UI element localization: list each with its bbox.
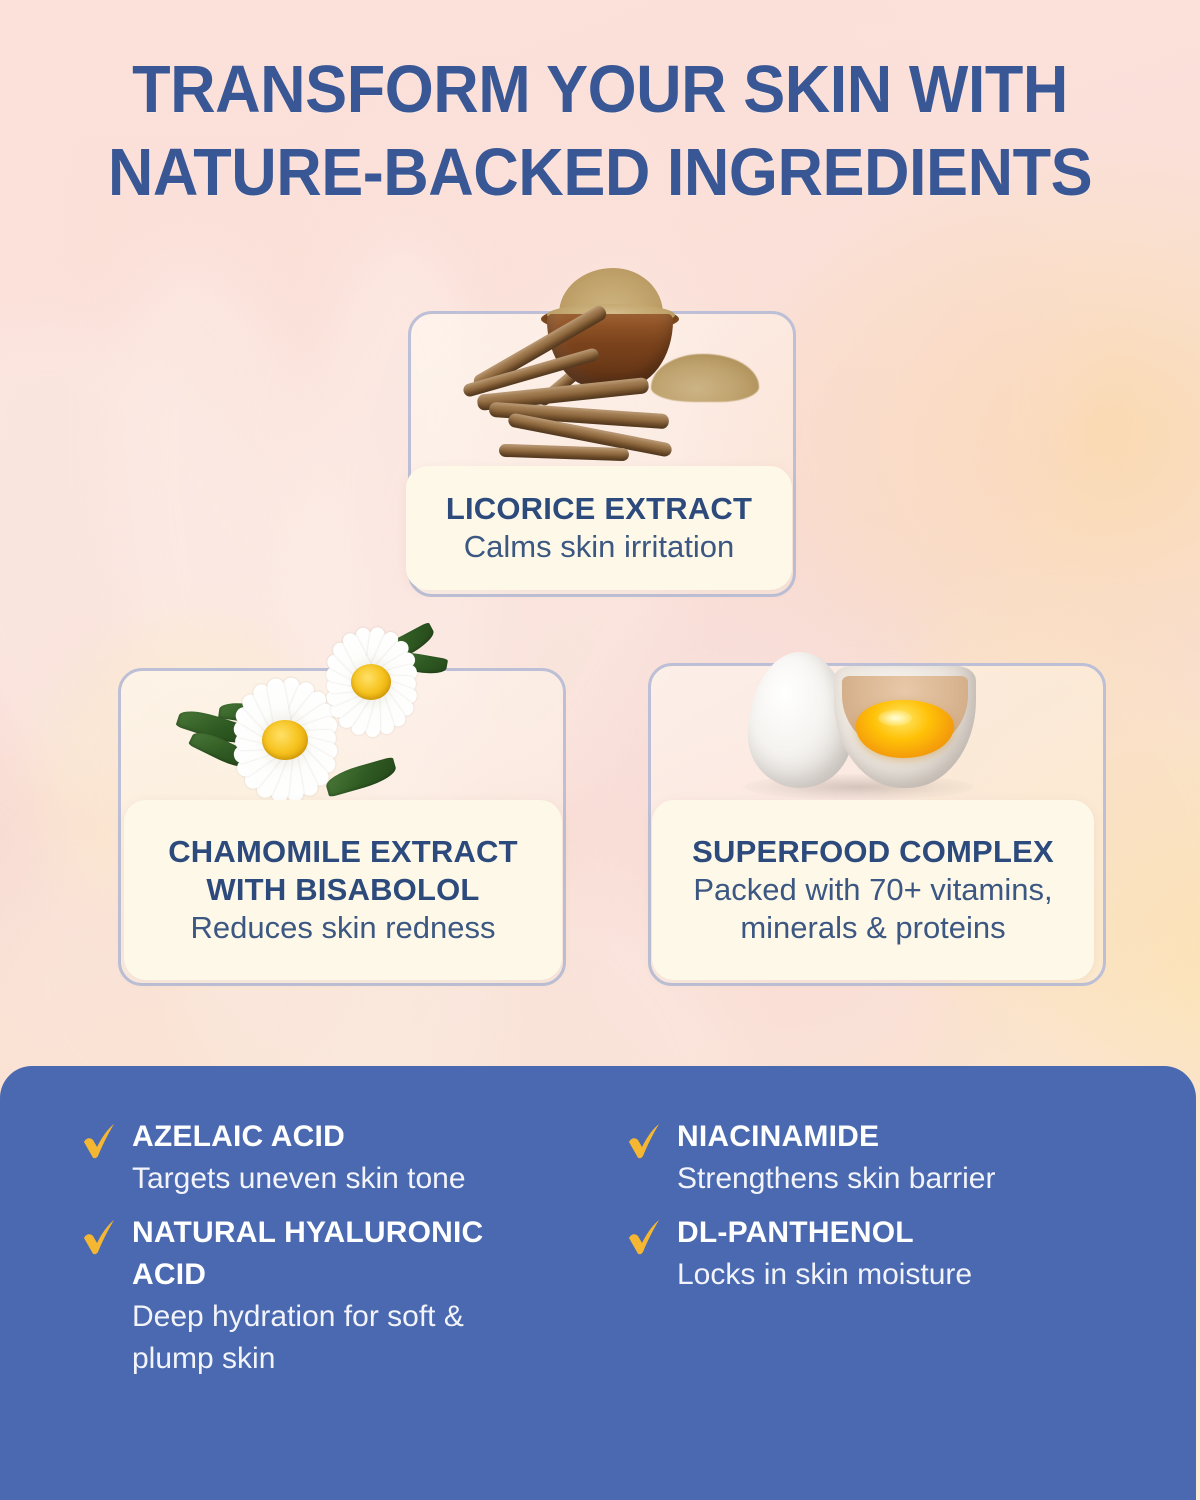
benefit-desc: Deep hydration for soft & plump skin xyxy=(132,1296,532,1380)
daisy-center xyxy=(262,720,308,761)
benefit-text: NIACINAMIDE Strengthens skin barrier xyxy=(677,1116,996,1200)
ingredient-title-line1: CHAMOMILE EXTRACT xyxy=(124,833,562,871)
page-title: TRANSFORM YOUR SKIN WITH NATURE-BACKED I… xyxy=(36,48,1164,214)
benefit-text: AZELAIC ACID Targets uneven skin tone xyxy=(132,1116,466,1200)
ingredient-subtitle: Reduces skin redness xyxy=(124,909,562,947)
benefit-desc: Targets uneven skin tone xyxy=(132,1158,466,1200)
benefit-desc: Strengthens skin barrier xyxy=(677,1158,996,1200)
daisy-center xyxy=(351,664,391,700)
checkmark-icon xyxy=(82,1122,116,1162)
checkmark-icon xyxy=(627,1122,661,1162)
chamomile-flowers-image xyxy=(175,608,495,828)
benefit-desc: Locks in skin moisture xyxy=(677,1254,972,1296)
benefit-item: NATURAL HYALURONIC ACID Deep hydration f… xyxy=(82,1212,627,1380)
licorice-root-bowl-image xyxy=(455,262,755,462)
ingredient-title: SUPERFOOD COMPLEX xyxy=(652,833,1094,871)
egg-yolk xyxy=(856,700,954,758)
benefit-name: NATURAL HYALURONIC ACID xyxy=(132,1212,552,1296)
licorice-powder-pile xyxy=(651,354,759,402)
benefit-text: DL-PANTHENOL Locks in skin moisture xyxy=(677,1212,972,1296)
benefit-item: AZELAIC ACID Targets uneven skin tone xyxy=(82,1116,627,1200)
ingredient-title: LICORICE EXTRACT xyxy=(406,490,792,528)
benefit-text: NATURAL HYALURONIC ACID Deep hydration f… xyxy=(132,1212,552,1380)
ingredient-label-superfood: SUPERFOOD COMPLEX Packed with 70+ vitami… xyxy=(652,800,1094,980)
licorice-stick xyxy=(499,444,629,462)
ingredient-label-chamomile: CHAMOMILE EXTRACT WITH BISABOLOL Reduces… xyxy=(124,800,562,980)
benefits-banner: AZELAIC ACID Targets uneven skin tone NI… xyxy=(0,1066,1196,1500)
chamomile-flower xyxy=(309,620,433,744)
checkmark-icon xyxy=(82,1218,116,1258)
cracked-eggshell xyxy=(834,666,976,788)
ingredient-subtitle: Calms skin irritation xyxy=(406,528,792,566)
yolk-highlight xyxy=(878,710,912,726)
ingredient-subtitle-line1: Packed with 70+ vitamins, xyxy=(652,871,1094,909)
benefits-grid: AZELAIC ACID Targets uneven skin tone NI… xyxy=(82,1116,1142,1380)
benefit-name: NIACINAMIDE xyxy=(677,1116,996,1158)
ingredient-label-licorice: LICORICE EXTRACT Calms skin irritation xyxy=(406,466,792,590)
benefit-name: DL-PANTHENOL xyxy=(677,1212,972,1254)
checkmark-icon xyxy=(627,1218,661,1258)
infographic-page: TRANSFORM YOUR SKIN WITH NATURE-BACKED I… xyxy=(0,0,1200,1500)
ingredient-subtitle-line2: minerals & proteins xyxy=(652,909,1094,947)
benefit-item: DL-PANTHENOL Locks in skin moisture xyxy=(627,1212,1142,1380)
benefit-item: NIACINAMIDE Strengthens skin barrier xyxy=(627,1116,1142,1200)
benefit-name: AZELAIC ACID xyxy=(132,1116,466,1158)
ingredient-title-line2: WITH BISABOLOL xyxy=(124,871,562,909)
